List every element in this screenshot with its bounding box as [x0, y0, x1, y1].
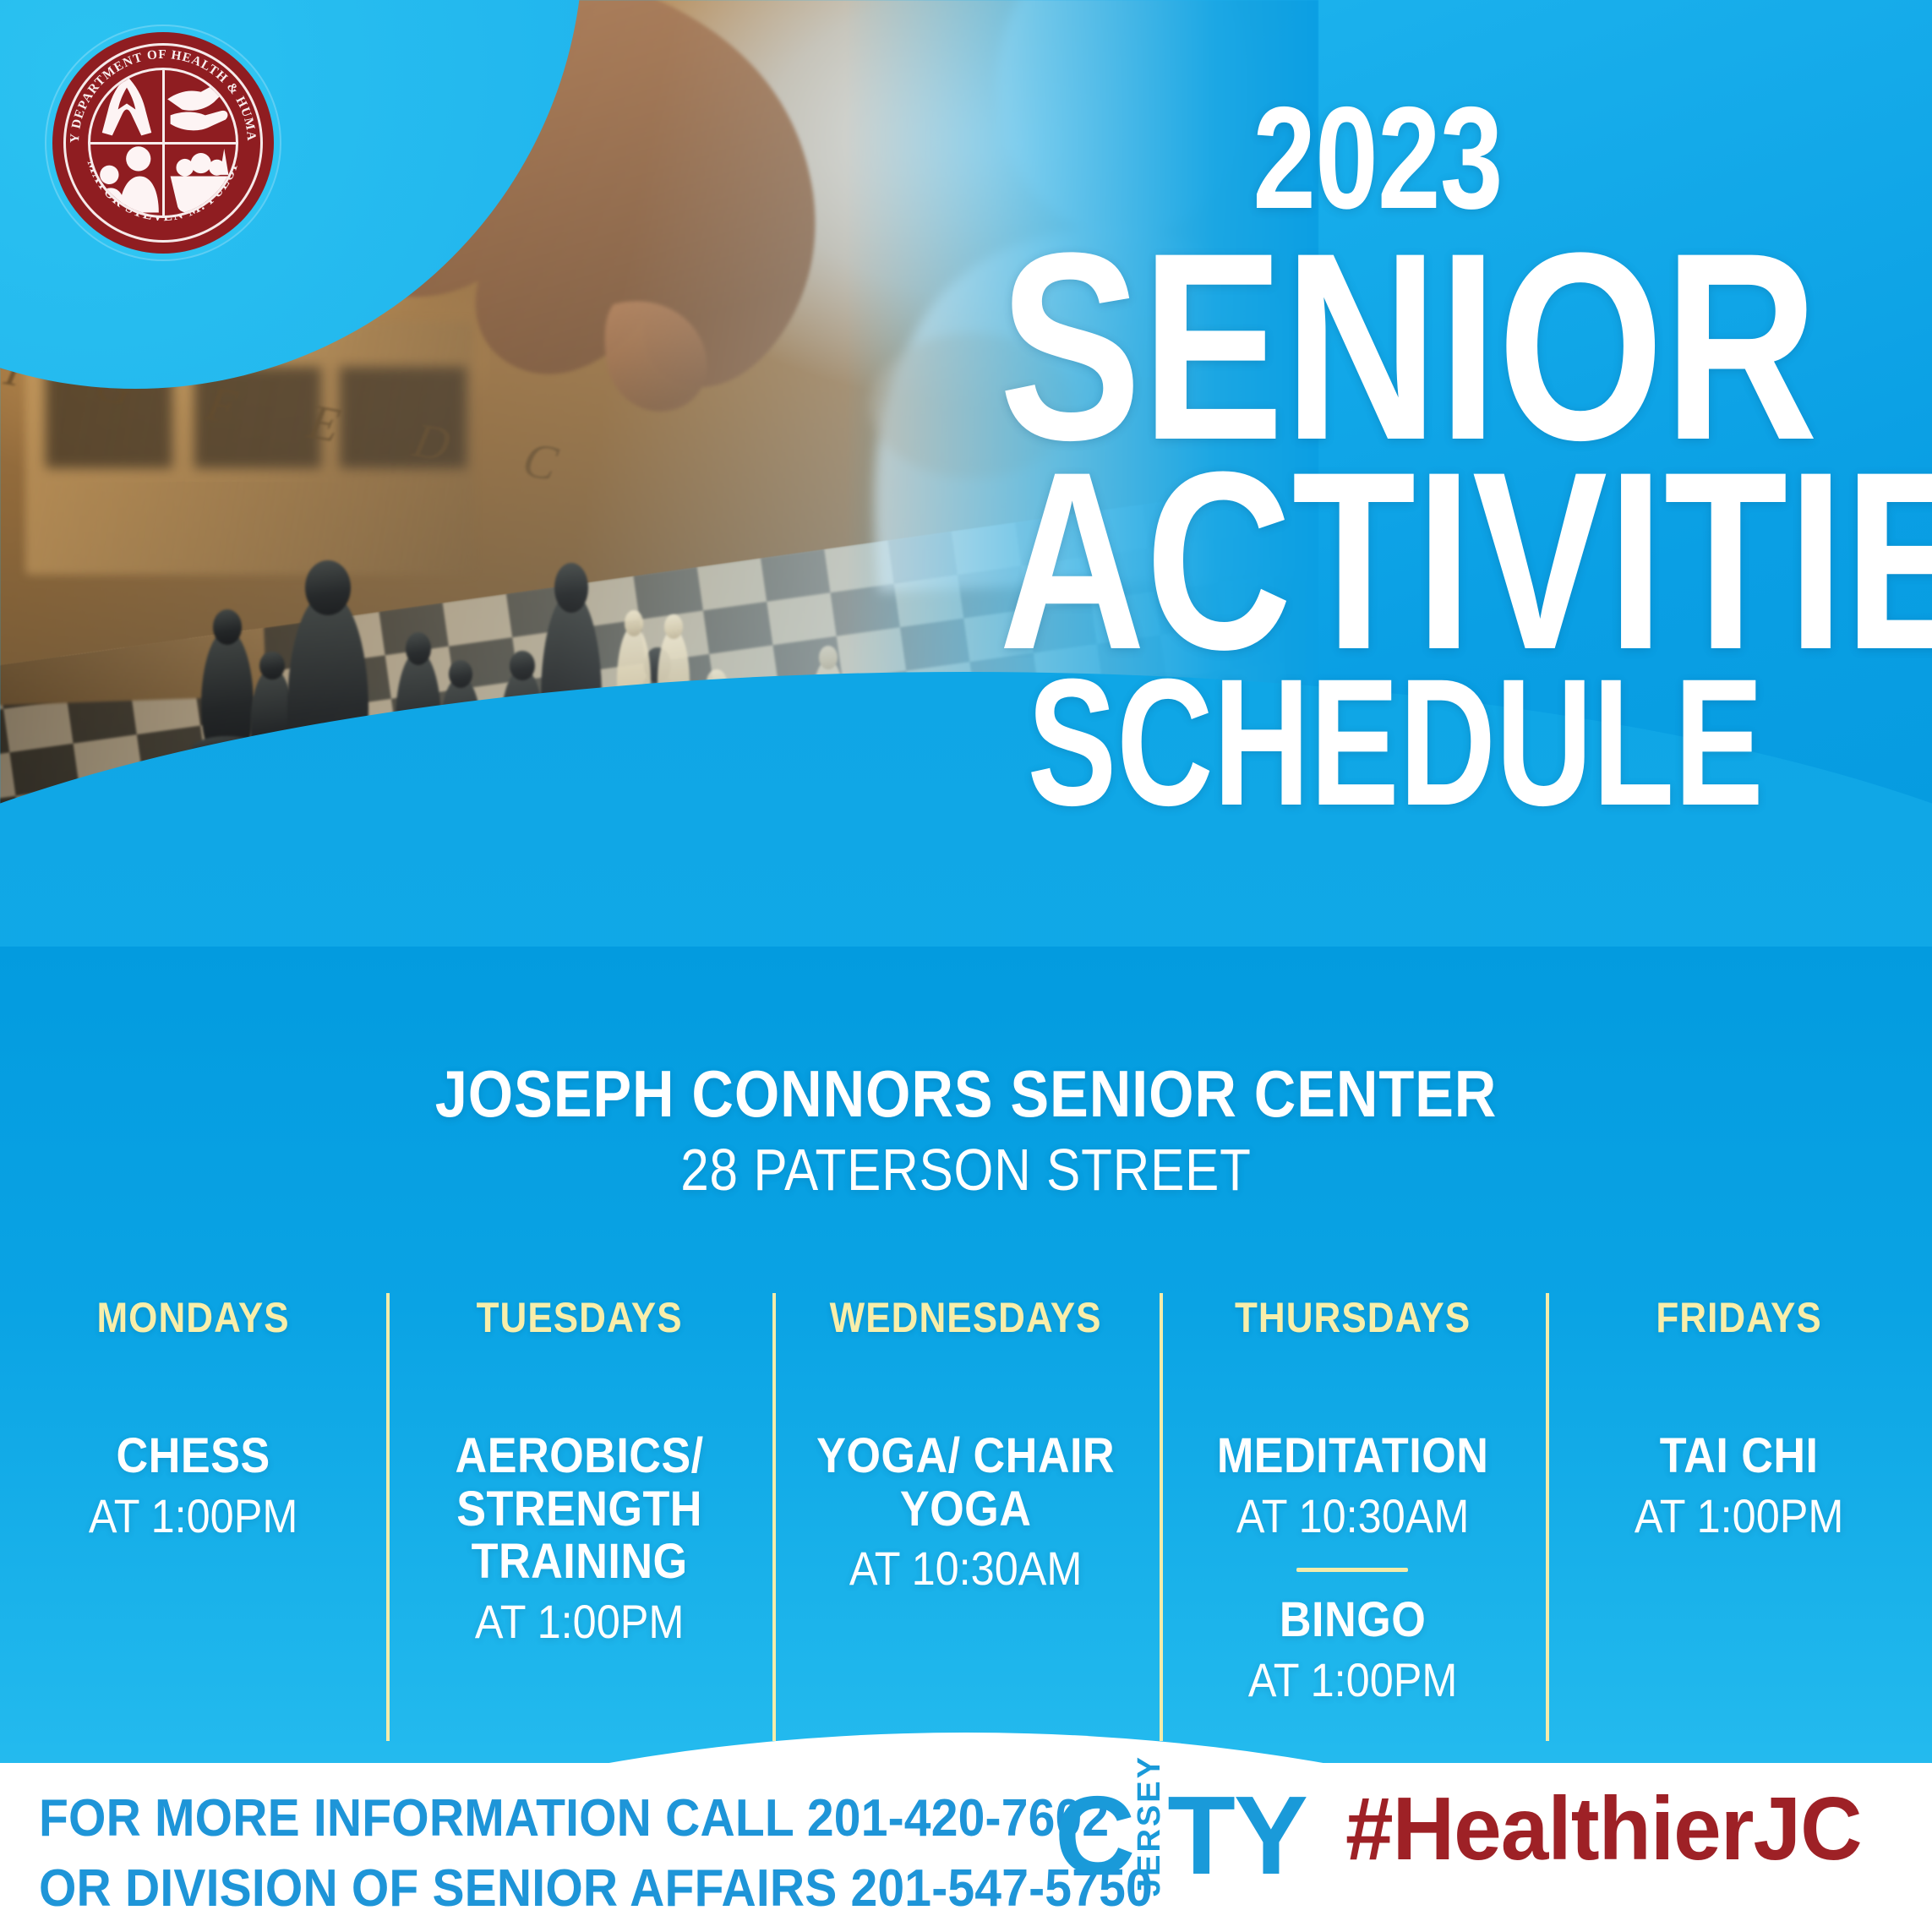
food-basket-icon: [163, 143, 236, 216]
activity-time: AT 1:00PM: [1189, 1654, 1515, 1707]
weekly-schedule-grid: MONDAYS CHESS AT 1:00PM TUESDAYS AEROBIC…: [0, 1293, 1932, 1749]
mother-and-child-icon: [90, 143, 163, 216]
day-header-thursday: THURSDAYS: [1192, 1293, 1512, 1342]
activity-name: CHESS: [30, 1430, 356, 1483]
day-header-wednesday: WEDNESDAYS: [806, 1293, 1126, 1342]
footer-line-1: FOR MORE INFORMATION CALL 201-420-7602: [39, 1783, 1153, 1853]
helping-hands-icon: [163, 70, 236, 143]
footer-contact-info: FOR MORE INFORMATION CALL 201-420-7602 O…: [39, 1783, 1153, 1924]
footer-section: FOR MORE INFORMATION CALL 201-420-7602 O…: [0, 1763, 1932, 1932]
activity-name: AEROBICS/ STRENGTH TRAINING: [417, 1430, 743, 1589]
logo-vertical-jersey: JERSEY: [1133, 1776, 1165, 1875]
activity-time: AT 1:00PM: [417, 1596, 743, 1649]
activity-separator: [1296, 1568, 1408, 1572]
logo-letters-ty: TY: [1167, 1790, 1307, 1881]
venue-name: JOSEPH CONNORS SENIOR CENTER: [116, 1061, 1816, 1127]
poster-root: H G F E D C: [0, 0, 1932, 1932]
activity-time: AT 10:30AM: [803, 1542, 1129, 1596]
poster-title: 2023 SENIOR ACTIVITIES SCHEDULE: [904, 91, 1851, 825]
activity-name: MEDITATION: [1189, 1430, 1515, 1483]
activity-name: TAI CHI: [1575, 1430, 1902, 1483]
title-line-activities: ACTIVITIES: [999, 454, 1756, 667]
jersey-city-logo: C JERSEY TY: [1055, 1776, 1307, 1881]
hero-section: H G F E D C: [0, 0, 1932, 1018]
schedule-column-tuesday: TUESDAYS AEROBICS/ STRENGTH TRAINING AT …: [386, 1293, 772, 1749]
footer-line-2: OR DIVISION OF SENIOR AFFAIRS 201-547-57…: [39, 1853, 1153, 1924]
activity-time: AT 1:00PM: [30, 1490, 356, 1543]
schedule-column-friday: FRIDAYS TAI CHI AT 1:00PM: [1546, 1293, 1932, 1749]
schedule-column-monday: MONDAYS CHESS AT 1:00PM: [0, 1293, 386, 1749]
activity-time: AT 1:00PM: [1575, 1490, 1902, 1543]
venue-block: JOSEPH CONNORS SENIOR CENTER 28 PATERSON…: [0, 1061, 1932, 1203]
logo-letter-c: C: [1055, 1790, 1133, 1881]
schedule-column-wednesday: WEDNESDAYS YOGA/ CHAIR YOGA AT 10:30AM: [772, 1293, 1159, 1749]
footer-logos: C JERSEY TY #HealthierJC: [1055, 1776, 1883, 1881]
activity-name: YOGA/ CHAIR YOGA: [803, 1430, 1129, 1536]
day-header-monday: MONDAYS: [34, 1293, 353, 1342]
healthier-jc-hashtag: #HealthierJC: [1345, 1784, 1862, 1874]
schedule-column-thursday: THURSDAYS MEDITATION AT 10:30AM BINGO AT…: [1160, 1293, 1546, 1749]
awareness-ribbon-icon: [90, 70, 163, 143]
venue-address: 28 PATERSON STREET: [135, 1137, 1797, 1203]
activity-name: BINGO: [1189, 1594, 1515, 1647]
day-header-tuesday: TUESDAYS: [420, 1293, 740, 1342]
jersey-city-health-seal: JERSEY CITY DEPARTMENT OF HEALTH & HUMAN…: [52, 32, 274, 254]
day-header-friday: FRIDAYS: [1580, 1293, 1899, 1342]
activity-time: AT 10:30AM: [1189, 1490, 1515, 1543]
title-line-schedule: SCHEDULE: [1028, 662, 1728, 825]
